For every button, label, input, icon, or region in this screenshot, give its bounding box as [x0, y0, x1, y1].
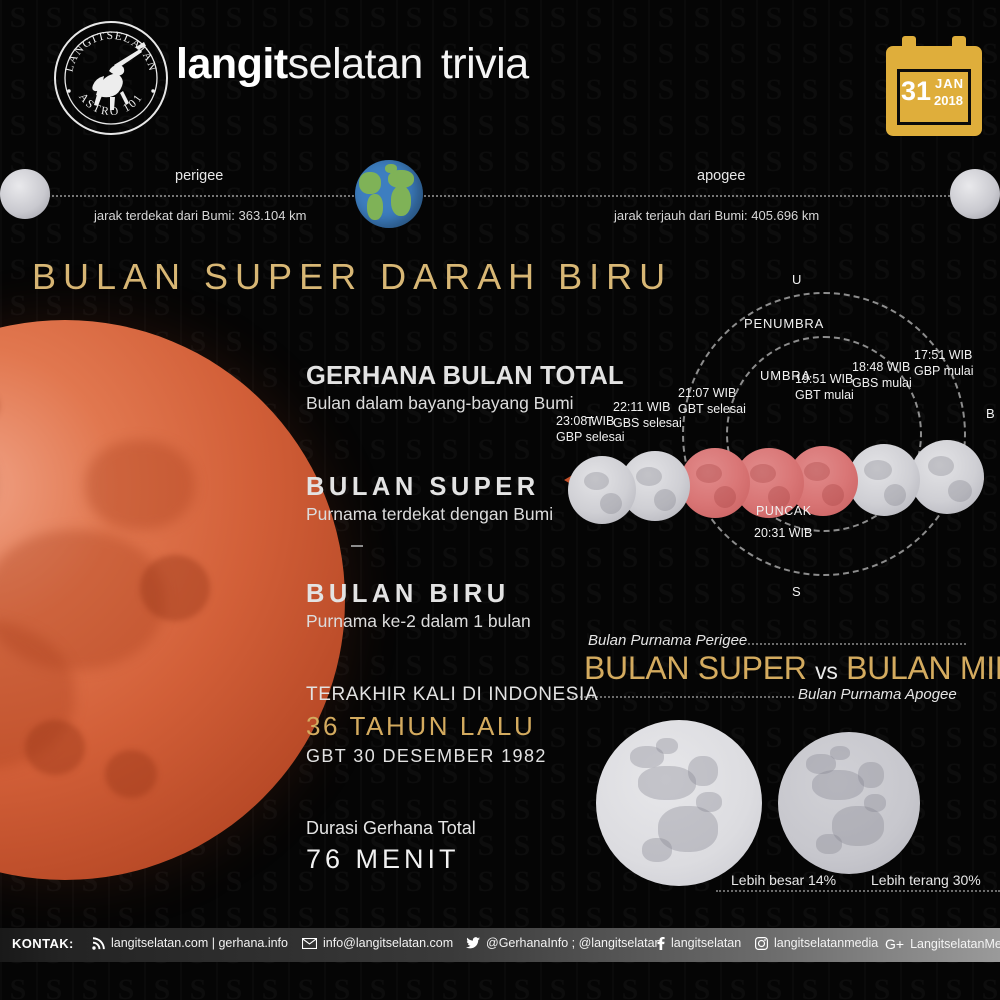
eclipse-moon-gbs-mulai	[848, 444, 920, 516]
eclipse-moon-gbt-selesai	[680, 448, 750, 518]
phase-time: 19:51 WIB	[795, 372, 853, 386]
svg-text:LANGITSELATAN: LANGITSELATAN	[63, 30, 158, 73]
calendar-icon: 31 JAN 2018	[886, 36, 982, 136]
phase-event: GBP selesai	[556, 430, 625, 444]
note-bigger: Lebih besar 14%	[731, 872, 836, 888]
phase-event: GBP mulai	[914, 364, 974, 378]
brand-wordmark: langitselatantrivia	[176, 40, 529, 89]
facebook-icon	[657, 937, 665, 950]
fact-subtitle: Purnama ke-2 dalam 1 bulan	[306, 611, 531, 632]
perigee-distance: jarak terdekat dari Bumi: 363.104 km	[94, 208, 306, 223]
phase-event: GBS mulai	[852, 376, 912, 390]
contact-email[interactable]: info@langitselatan.com	[302, 936, 453, 950]
contact-twitter-text: @GerhanaInfo ; @langitselatan	[486, 936, 661, 950]
calendar-year: 2018	[934, 93, 963, 108]
comparison-top-label: Bulan Purnama Perigee	[588, 632, 747, 649]
comparison-top-leader-line	[748, 643, 966, 645]
last-line-2: 36 TAHUN LALU	[306, 711, 598, 742]
contact-twitter[interactable]: @GerhanaInfo ; @langitselatan	[466, 936, 661, 950]
perigee-label: perigee	[175, 168, 223, 184]
phase-event: GBT selesai	[678, 402, 746, 416]
last-in-indonesia-block: TERAKHIR KALI DI INDONESIA 36 TAHUN LALU…	[306, 684, 598, 767]
calendar-month: JAN	[935, 76, 964, 91]
phase-label-gbs-mulai: 18:48 WIB GBS mulai	[852, 360, 912, 391]
fact-block-supermoon: BULAN SUPER Purnama terdekat dengan Bumi	[306, 473, 553, 525]
orbit-band: perigee jarak terdekat dari Bumi: 363.10…	[0, 150, 1000, 240]
duration-label: Durasi Gerhana Total	[306, 818, 476, 839]
twitter-icon	[466, 937, 480, 949]
comparison-title-super: BULAN SUPER	[584, 650, 807, 686]
eclipse-moon-gbp-mulai	[910, 440, 984, 514]
supermoon-vs-minimoon-section: Bulan Purnama Perigee BULAN SUPER vs BUL…	[556, 632, 1000, 900]
rss-icon	[92, 937, 105, 950]
contact-facebook-text: langitselatan	[671, 936, 741, 950]
phase-time: 18:48 WIB	[852, 360, 910, 374]
direction-south: S	[792, 584, 801, 599]
decorative-dash	[351, 545, 363, 547]
contact-googleplus[interactable]: G+ LangitselatanMedia	[885, 936, 1000, 952]
comparison-title-vs: vs	[815, 658, 837, 684]
penumbra-label: PENUMBRA	[744, 316, 824, 331]
phase-event: GBT mulai	[795, 388, 854, 402]
fact-title: BULAN BIRU	[306, 580, 531, 609]
apogee-label: apogee	[697, 168, 745, 184]
last-line-3: GBT 30 DESEMBER 1982	[306, 746, 598, 767]
note-brighter: Lebih terang 30%	[871, 872, 981, 888]
direction-west: B	[986, 406, 995, 421]
comparison-bottom-leader-line	[568, 696, 794, 698]
instagram-icon	[755, 937, 768, 950]
eclipse-path-diagram: U S T B PENUMBRA UMBRA	[556, 276, 1000, 612]
contact-instagram-text: langitselatanmedia	[774, 936, 878, 950]
phase-time: 17:51 WIB	[914, 348, 972, 362]
phase-time: 22:11 WIB	[613, 400, 670, 414]
contact-instagram[interactable]: langitselatanmedia	[755, 936, 878, 950]
fact-title: BULAN SUPER	[306, 473, 553, 502]
comparison-title: BULAN SUPER vs BULAN MINI	[584, 650, 1000, 687]
eclipse-moon-gbp-selesai	[568, 456, 636, 524]
supermoon-disc	[596, 720, 762, 886]
duration-value: 76 MENIT	[306, 844, 476, 875]
fact-subtitle: Purnama terdekat dengan Bumi	[306, 504, 553, 525]
phase-label-gbp-mulai: 17:51 WIB GBP mulai	[914, 348, 974, 379]
contact-label: KONTAK:	[12, 936, 74, 951]
minimoon-disc	[778, 732, 920, 874]
comparison-note-line	[716, 890, 1000, 892]
peak-label: PUNCAK	[756, 504, 812, 520]
brand-selatan: selatan	[288, 40, 423, 88]
phase-time: 23:08 WIB	[556, 414, 614, 428]
contact-website[interactable]: langitselatan.com | gerhana.info	[92, 936, 288, 950]
brand-trivia: trivia	[441, 40, 529, 88]
contact-googleplus-text: LangitselatanMedia	[910, 937, 1000, 951]
contact-website-text: langitselatan.com | gerhana.info	[111, 936, 288, 950]
contact-facebook[interactable]: langitselatan	[657, 936, 741, 950]
phase-label-gbt-mulai: 19:51 WIB GBT mulai	[795, 372, 854, 403]
phase-time: 21:07 WIB	[678, 386, 736, 400]
peak-time: 20:31 WIB	[754, 526, 812, 542]
comparison-bottom-label: Bulan Purnama Apogee	[798, 686, 957, 703]
orbit-dotted-line	[36, 195, 966, 197]
apogee-moon-icon	[950, 169, 1000, 219]
calendar-body: 31 JAN 2018	[886, 46, 982, 136]
blood-moon-illustration	[0, 320, 345, 880]
duration-block: Durasi Gerhana Total 76 MENIT	[306, 818, 476, 875]
contact-email-text: info@langitselatan.com	[323, 936, 453, 950]
last-line-1: TERAKHIR KALI DI INDONESIA	[306, 684, 598, 706]
comparison-title-mini: BULAN MINI	[846, 650, 1000, 686]
brand-langit: langit	[176, 40, 288, 88]
header: LANGITSELATAN ASTRO 101 langitselatantri…	[0, 0, 1000, 150]
phase-event: GBS selesai	[613, 416, 682, 430]
langitselatan-logo: LANGITSELATAN ASTRO 101	[52, 19, 170, 137]
email-icon	[302, 938, 317, 949]
phase-label-gbt-selesai: 21:07 WIB GBT selesai	[678, 386, 746, 417]
earth-icon	[355, 160, 423, 228]
phase-label-gbs-selesai: 22:11 WIB GBS selesai	[613, 400, 682, 431]
apogee-distance: jarak terjauh dari Bumi: 405.696 km	[614, 208, 819, 223]
perigee-moon-icon	[0, 169, 50, 219]
infographic-canvas: SSSSSSSSSSSSSSSSSSSSSSSSSSSSSSSSSSSSSSSS…	[0, 0, 1000, 1000]
googleplus-icon: G+	[885, 936, 904, 952]
calendar-day: 31	[901, 76, 931, 107]
direction-north: U	[792, 272, 802, 287]
fact-block-bluemoon: BULAN BIRU Purnama ke-2 dalam 1 bulan	[306, 580, 531, 632]
